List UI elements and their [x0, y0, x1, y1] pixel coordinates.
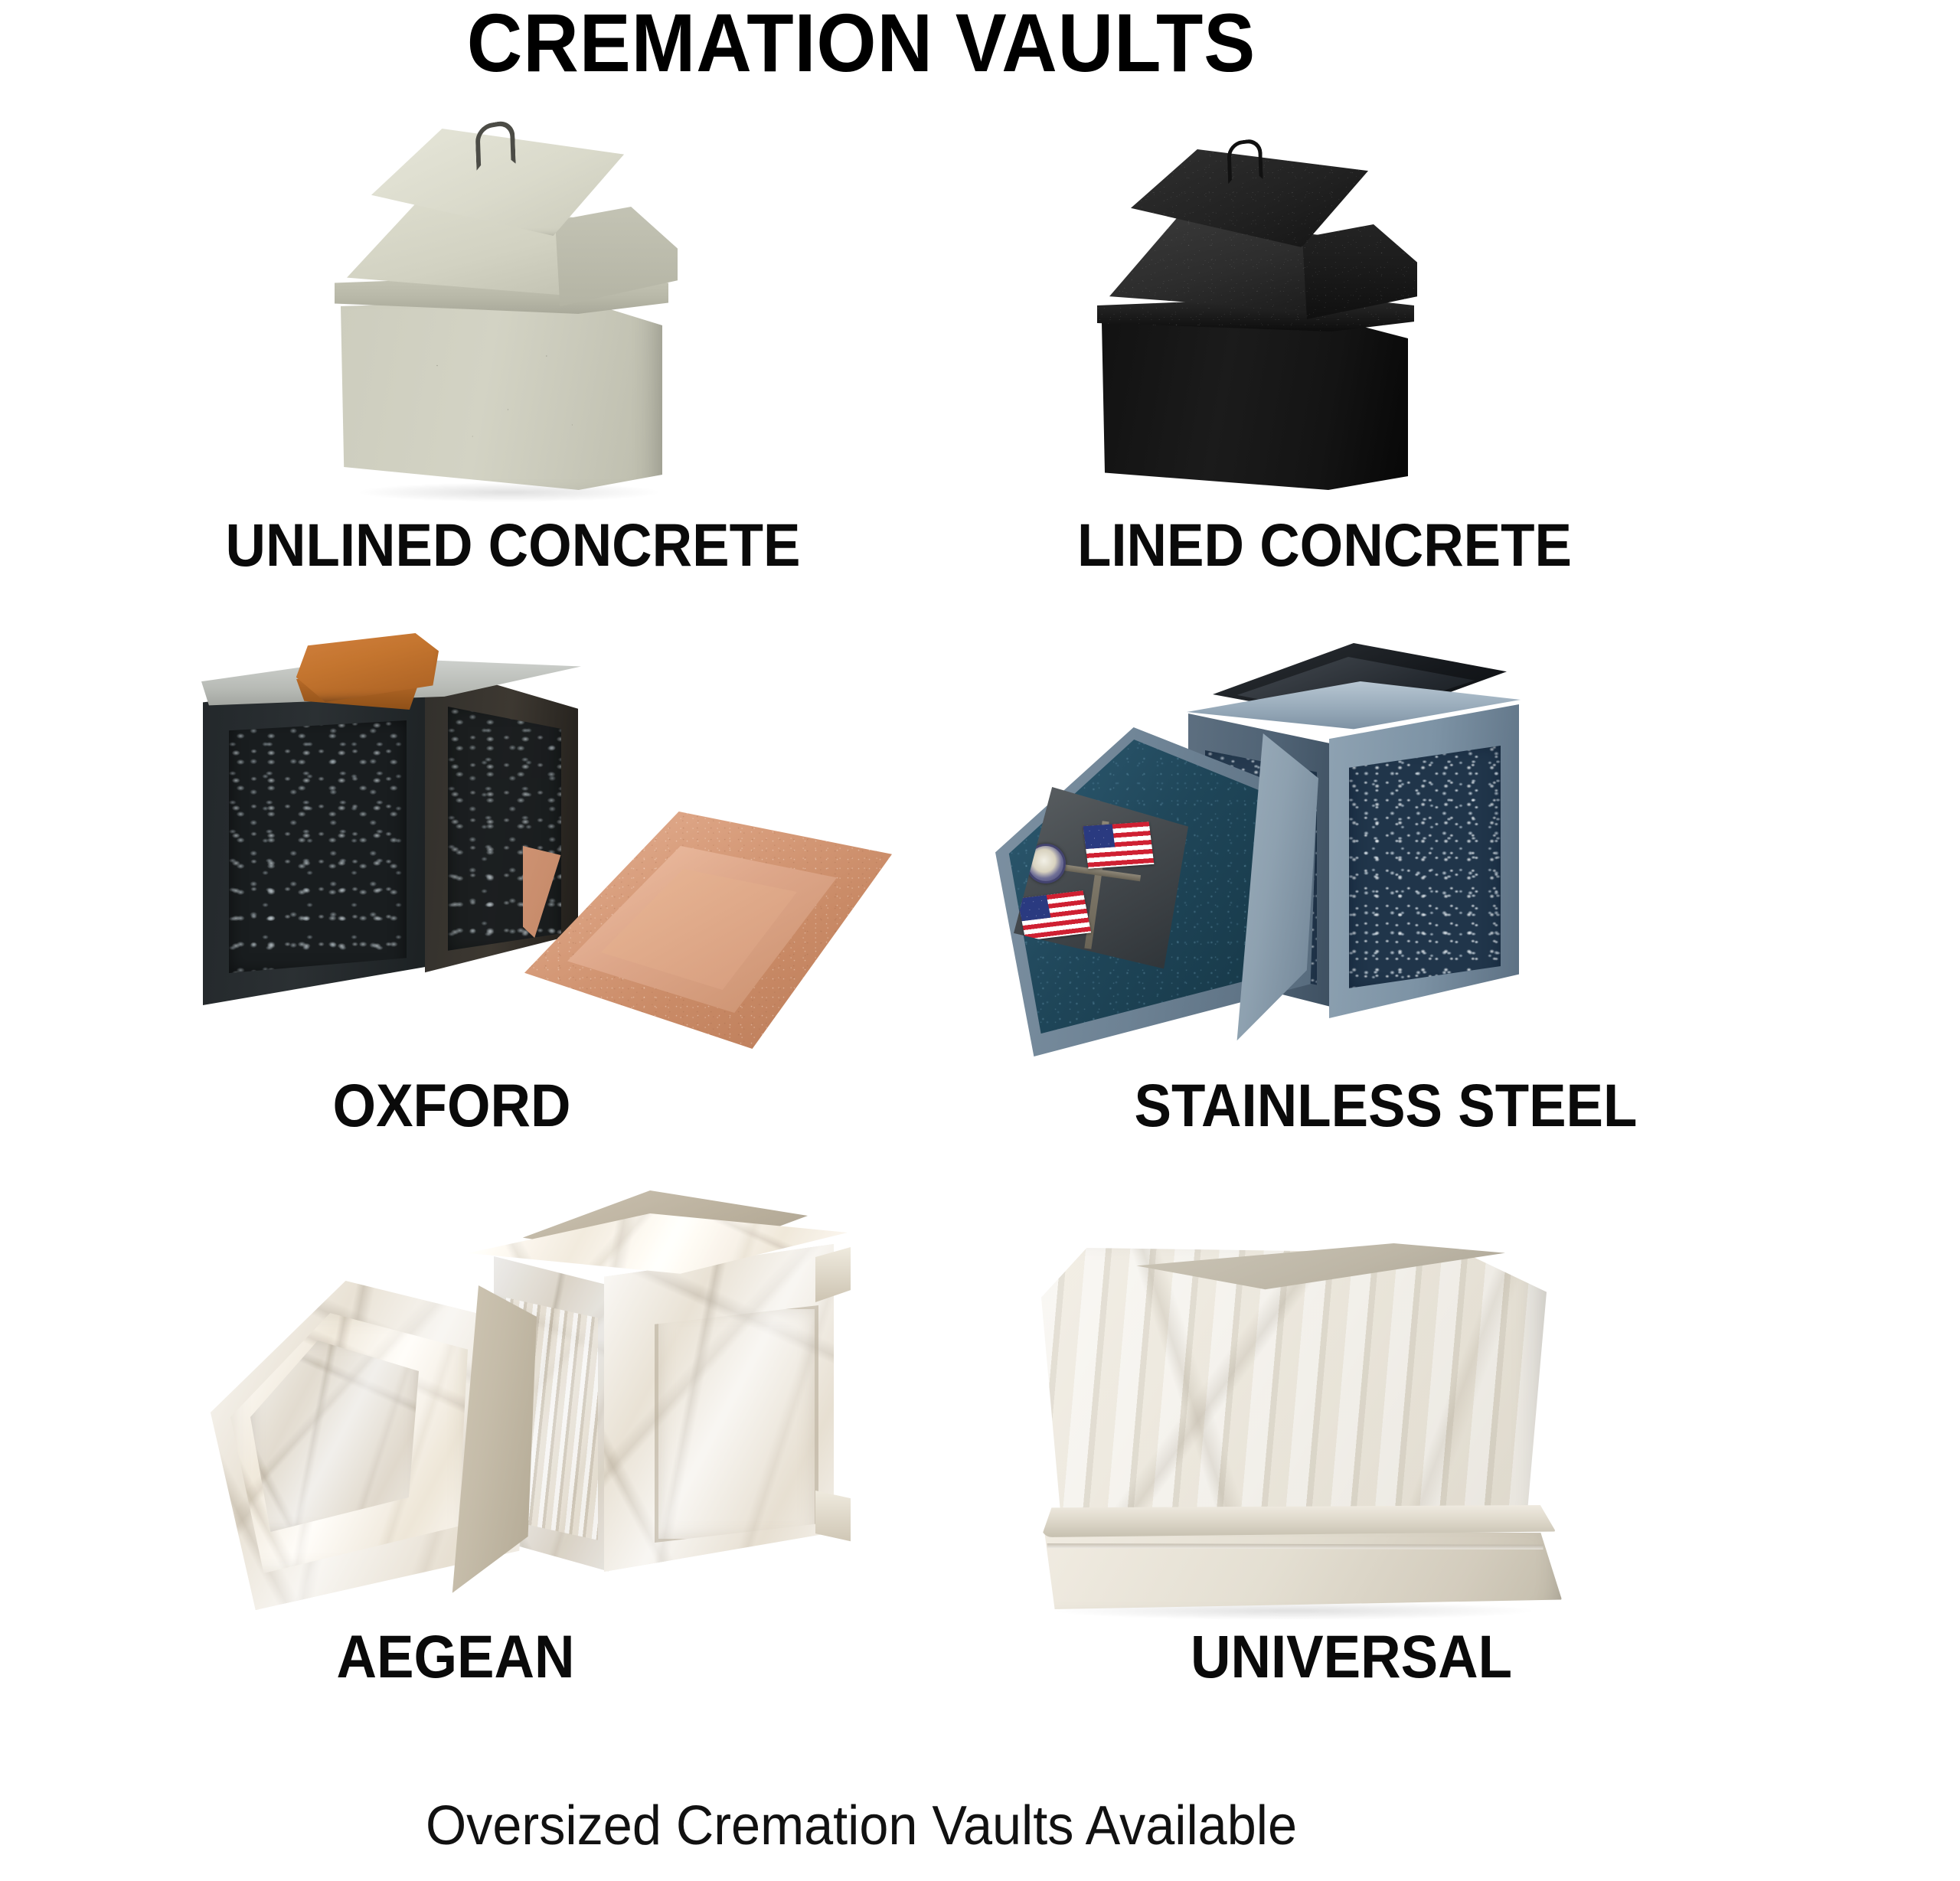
- vault-body: [1041, 1248, 1547, 1523]
- caption-universal: UNIVERSAL: [1034, 1626, 1668, 1687]
- product-image-stainless-steel: [995, 643, 1623, 1072]
- lift-handle-icon: [475, 119, 515, 171]
- oxford-illustration: [195, 616, 907, 1076]
- drop-shadow: [356, 482, 662, 502]
- page-title: CREMATION VAULTS: [60, 2, 1663, 84]
- caption-unlined-concrete: UNLINED CONCRETE: [139, 514, 886, 575]
- recessed-panel-right: [655, 1305, 818, 1543]
- caption-oxford: OXFORD: [227, 1075, 678, 1135]
- corner-capital-bottom: [815, 1491, 851, 1546]
- unlined-concrete-illustration: [325, 122, 754, 517]
- hammered-panel-right: [1349, 746, 1501, 991]
- flag-canton: [1083, 825, 1116, 849]
- american-flag-icon: [1018, 890, 1091, 940]
- product-image-unlined-concrete: [325, 122, 754, 517]
- hammered-panel-right: [448, 707, 561, 953]
- product-image-universal: [1041, 1248, 1562, 1623]
- lined-concrete-illustration: [1091, 142, 1474, 509]
- vault-base-plinth: [1034, 1530, 1562, 1609]
- aegean-illustration: [211, 1190, 900, 1627]
- lift-handle-icon: [1227, 138, 1263, 185]
- caption-stainless-steel: STAINLESS STEEL: [1020, 1075, 1753, 1135]
- universal-illustration: [1041, 1248, 1562, 1623]
- stainless-steel-illustration: [995, 643, 1623, 1072]
- vault-body: [1102, 318, 1408, 490]
- caption-lined-concrete: LINED CONCRETE: [1008, 514, 1641, 575]
- caption-aegean: AEGEAN: [230, 1626, 681, 1687]
- footnote-oversized-available: Oversized Cremation Vaults Available: [43, 1798, 1680, 1853]
- product-image-oxford: [195, 616, 907, 1076]
- product-image-lined-concrete: [1091, 142, 1474, 509]
- hammered-panel-left: [229, 720, 407, 973]
- product-image-aegean: [211, 1190, 900, 1627]
- vault-body: [341, 299, 662, 490]
- american-flag-icon: [1083, 821, 1155, 869]
